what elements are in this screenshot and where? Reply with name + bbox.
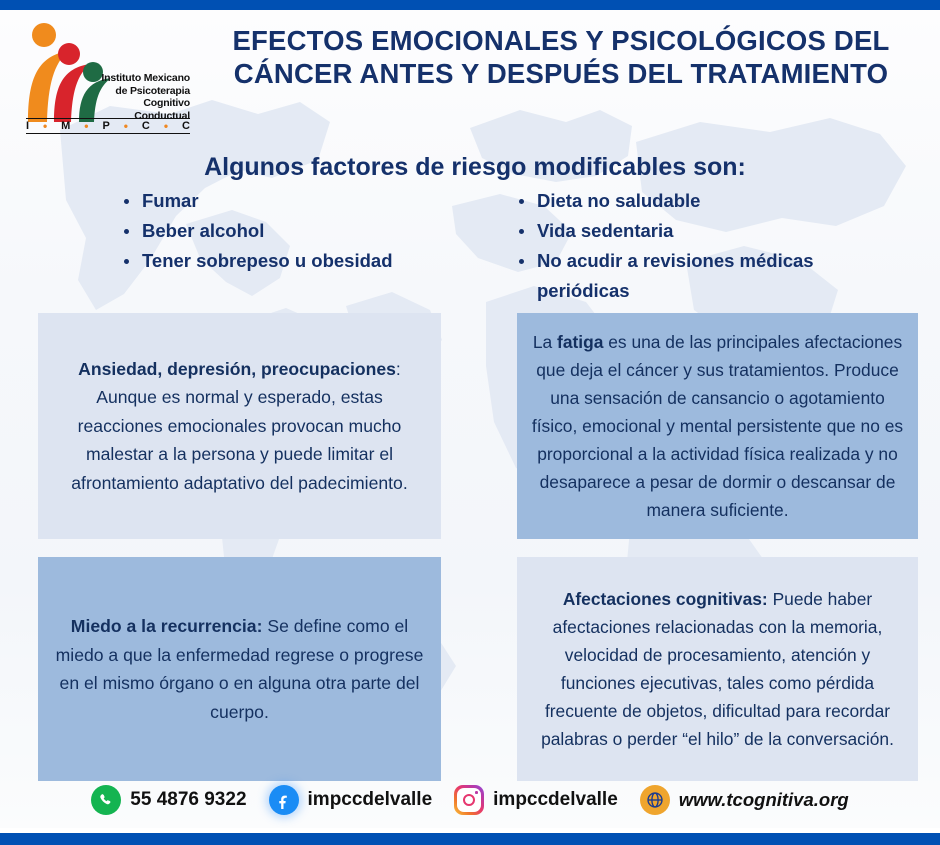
list-item: Tener sobrepeso u obesidad — [118, 246, 505, 276]
contact-instagram[interactable]: impccdelvalle — [454, 785, 618, 815]
contact-label: impccdelvalle — [308, 789, 433, 811]
logo-acronym-letter-c2: C — [182, 120, 190, 132]
logo-acronym: I • M • P • C • C — [26, 118, 190, 134]
contact-label: 55 4876 9322 — [130, 789, 246, 811]
list-item: Dieta no saludable — [513, 186, 900, 216]
card-heading: Miedo a la recurrencia: — [71, 616, 263, 636]
contact-whatsapp[interactable]: 55 4876 9322 — [91, 785, 246, 815]
logo-acronym-letter-i: I — [26, 120, 29, 132]
facebook-icon[interactable] — [269, 785, 299, 815]
page-title: EFECTOS EMOCIONALES Y PSICOLÓGICOS DEL C… — [196, 24, 926, 90]
logo-acronym-dot-1: • — [43, 120, 47, 132]
risk-factors-heading: Algunos factores de riesgo modificables … — [60, 152, 890, 182]
card-heading: Afectaciones cognitivas: — [563, 589, 768, 609]
logo-line-1: Instituto Mexicano — [92, 72, 190, 85]
logo-acronym-dot-2: • — [84, 120, 88, 132]
bottom-accent-bar — [0, 828, 940, 845]
logo-acronym-dot-4: • — [164, 120, 168, 132]
card-body: Aunque es normal y esperado, estas reacc… — [71, 387, 407, 493]
footer-contact-bar: 55 4876 9322 impccdelvalle impccdelvalle — [0, 777, 940, 823]
logo-acronym-letter-m: M — [61, 120, 70, 132]
globe-icon[interactable] — [640, 785, 670, 815]
logo-acronym-dot-3: • — [124, 120, 128, 132]
risk-factors-column-left: Fumar Beber alcohol Tener sobrepeso u ob… — [110, 186, 505, 306]
whatsapp-icon[interactable] — [91, 785, 121, 815]
logo-acronym-letter-p: P — [102, 120, 109, 132]
card-lead-emphasis: fatiga — [557, 332, 603, 352]
card-afectaciones-cognitivas: Afectaciones cognitivas: Puede haber afe… — [517, 557, 918, 781]
header: Instituto Mexicano de Psicoterapia Cogni… — [0, 10, 940, 145]
list-item: Beber alcohol — [118, 216, 505, 246]
list-item: Fumar — [118, 186, 505, 216]
card-body: es una de las principales afectaciones q… — [532, 332, 903, 520]
list-item: Vida sedentaria — [513, 216, 900, 246]
logo-line-2: de Psicoterapia — [92, 85, 190, 98]
card-heading-suffix: : — [396, 359, 401, 379]
risk-factors-column-right: Dieta no saludable Vida sedentaria No ac… — [505, 186, 900, 306]
card-miedo-recurrencia: Miedo a la recurrencia: Se define como e… — [38, 557, 441, 781]
contact-facebook[interactable]: impccdelvalle — [269, 785, 433, 815]
infographic-poster: Instituto Mexicano de Psicoterapia Cogni… — [0, 0, 940, 845]
risk-factors-lists: Fumar Beber alcohol Tener sobrepeso u ob… — [110, 186, 900, 306]
top-accent-bar — [0, 0, 940, 10]
logo-acronym-letter-c1: C — [142, 120, 150, 132]
card-fatiga: La fatiga es una de las principales afec… — [517, 313, 918, 539]
list-item: No acudir a revisiones médicas periódica… — [513, 246, 900, 306]
contact-label: impccdelvalle — [493, 789, 618, 811]
contact-website[interactable]: www.tcognitiva.org — [640, 785, 849, 815]
impcc-logo: Instituto Mexicano de Psicoterapia Cogni… — [14, 18, 190, 140]
card-ansiedad-depresion: Ansiedad, depresión, preocupaciones: Aun… — [38, 313, 441, 539]
card-lead-text: La — [533, 332, 557, 352]
contact-label: www.tcognitiva.org — [679, 789, 849, 811]
card-heading: Ansiedad, depresión, preocupaciones — [78, 359, 396, 379]
instagram-icon[interactable] — [454, 785, 484, 815]
logo-name-text: Instituto Mexicano de Psicoterapia Cogni… — [92, 72, 190, 122]
card-body: Puede haber afectaciones relacionadas co… — [541, 589, 894, 749]
